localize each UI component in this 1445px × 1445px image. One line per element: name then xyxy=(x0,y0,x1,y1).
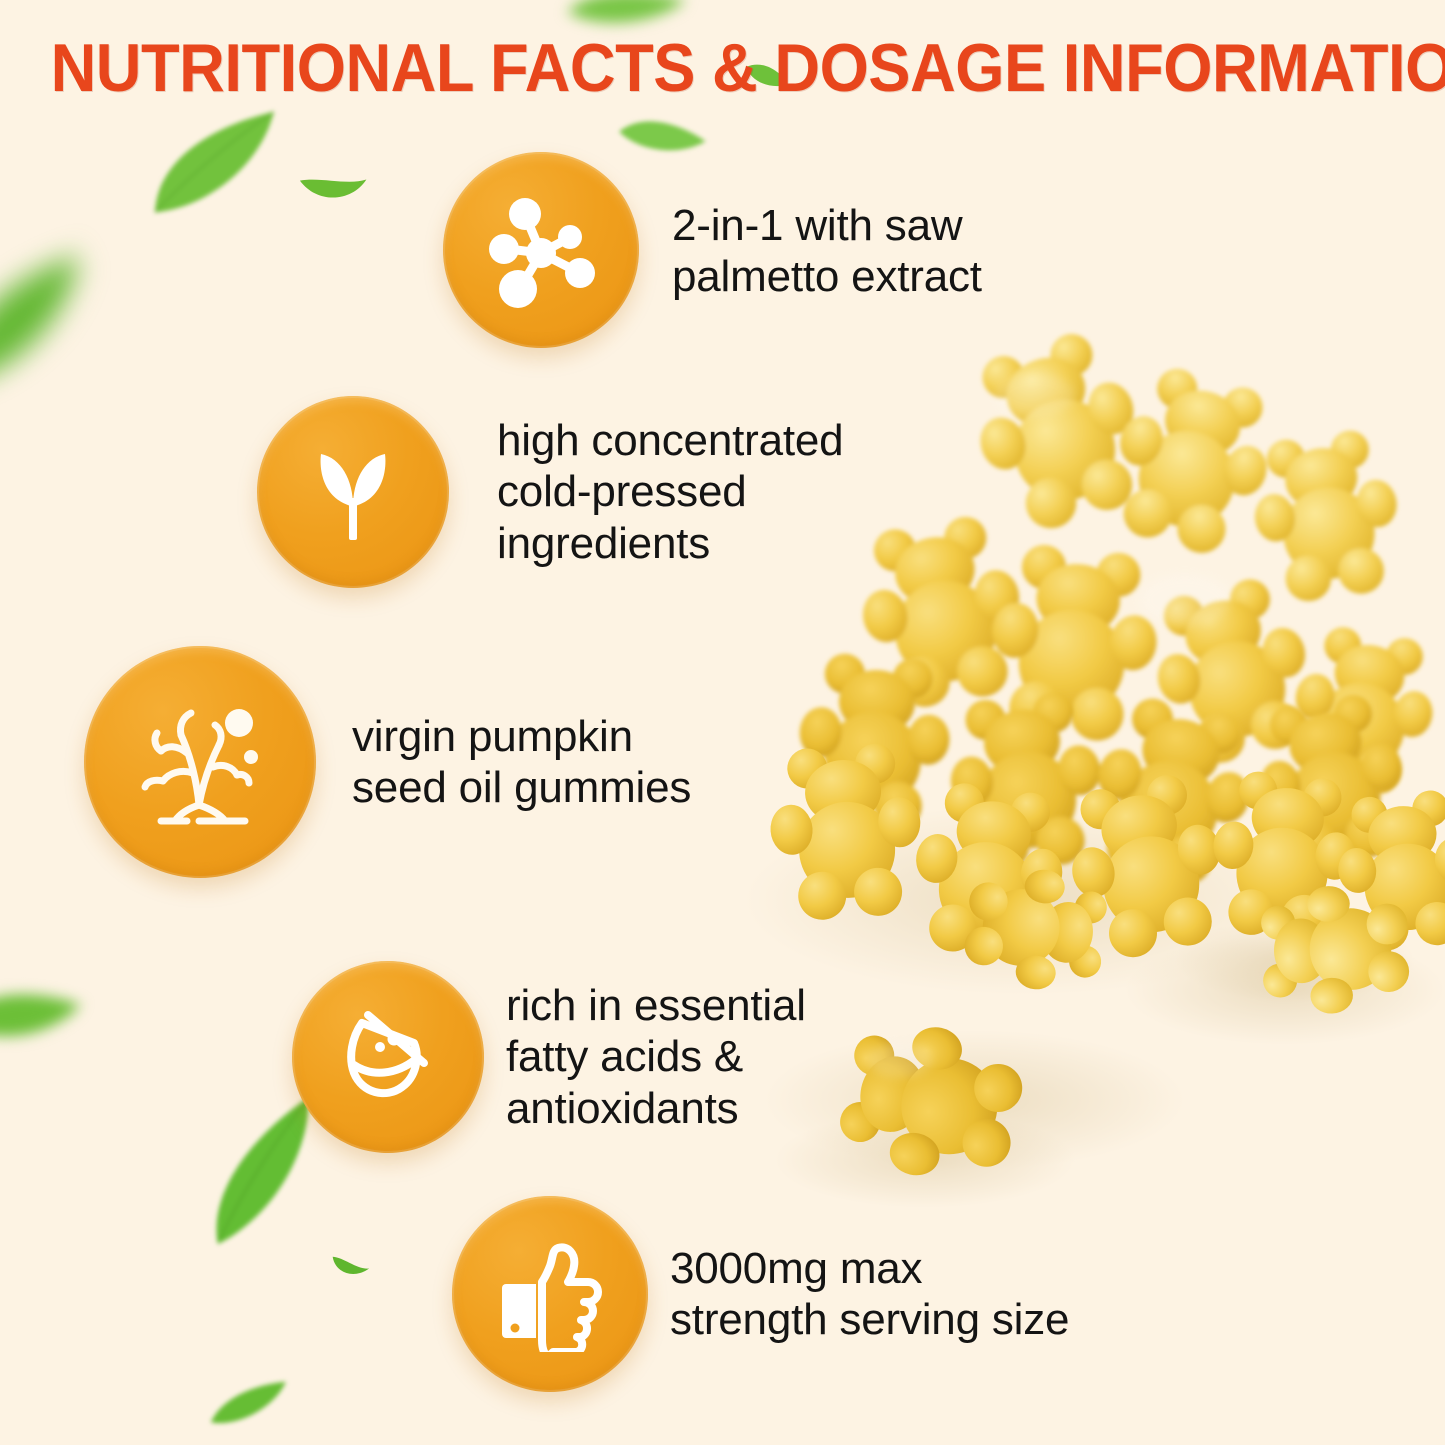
leaf-decoration xyxy=(295,170,368,211)
leaf-decoration xyxy=(132,105,298,223)
infographic-page: NUTRITIONAL FACTS & DOSAGE INFORMATION 2… xyxy=(0,0,1445,1445)
feature-text-2: high concentrated cold-pressed ingredien… xyxy=(497,415,843,569)
thumbs-up-icon xyxy=(452,1196,648,1392)
leaf-decoration xyxy=(0,970,84,1063)
leaf-decoration xyxy=(203,1377,295,1432)
feature-row-1: 2-in-1 with saw palmetto extract xyxy=(443,152,982,348)
feature-row-3: virgin pumpkin seed oil gummies xyxy=(84,646,691,878)
feature-text-4: rich in essential fatty acids & antioxid… xyxy=(506,980,806,1134)
sprout-icon xyxy=(257,396,449,588)
leaf-decoration xyxy=(325,1251,370,1287)
feature-row-4: rich in essential fatty acids & antioxid… xyxy=(292,961,806,1153)
feature-text-3: virgin pumpkin seed oil gummies xyxy=(352,711,691,814)
leaf-decoration xyxy=(0,248,115,397)
test-tube-icon xyxy=(292,961,484,1153)
feature-row-2: high concentrated cold-pressed ingredien… xyxy=(257,396,843,588)
page-title: NUTRITIONAL FACTS & DOSAGE INFORMATION xyxy=(51,34,1395,102)
feature-row-5: 3000mg max strength serving size xyxy=(452,1196,1069,1392)
feature-text-5: 3000mg max strength serving size xyxy=(670,1243,1069,1346)
coral-plant-icon xyxy=(84,646,316,878)
molecule-icon xyxy=(443,152,639,348)
feature-text-1: 2-in-1 with saw palmetto extract xyxy=(672,200,982,303)
